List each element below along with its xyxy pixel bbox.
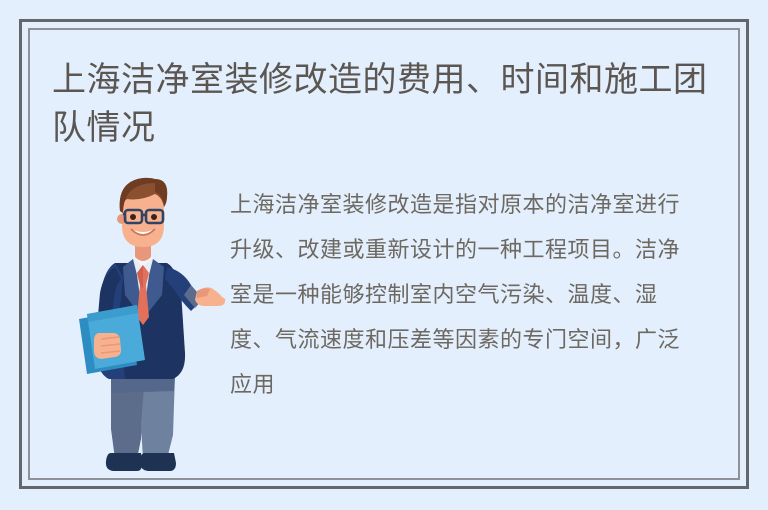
article-body-text: 上海洁净室装修改造是指对原本的洁净室进行升级、改建或重新设计的一种工程项目。洁净… bbox=[230, 182, 700, 407]
businessman-illustration bbox=[67, 167, 227, 477]
article-card: 上海洁净室装修改造的费用、时间和施工团队情况 上海洁净室装修改造是指对原本的洁净… bbox=[19, 19, 749, 489]
businessman-figure-icon bbox=[67, 167, 227, 477]
page-title: 上海洁净室装修改造的费用、时间和施工团队情况 bbox=[52, 56, 712, 152]
